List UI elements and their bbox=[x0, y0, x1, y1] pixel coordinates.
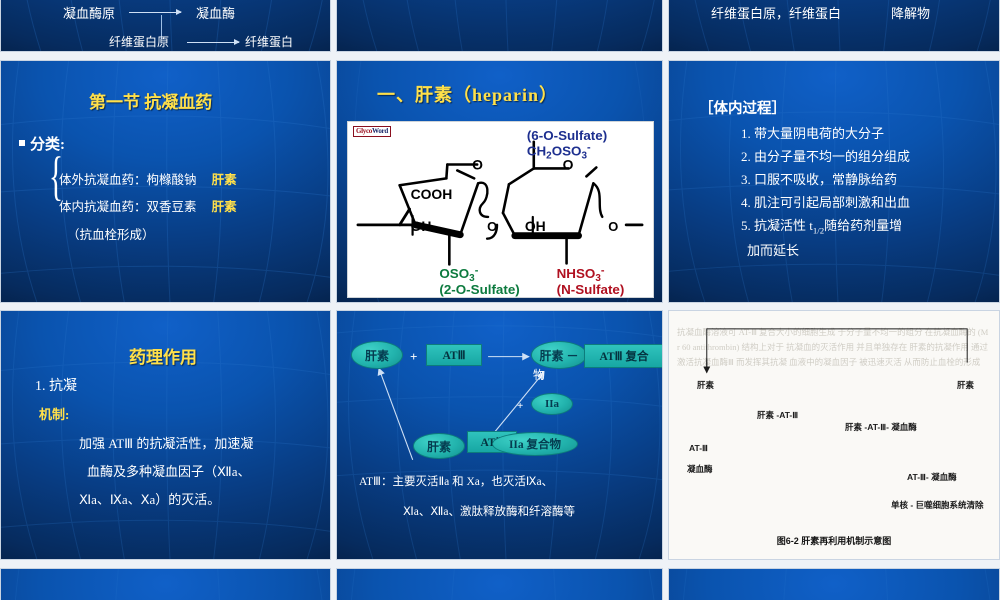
slide-thumbnail-heparin-recycle-figure[interactable]: 抗凝血酶溶液可 AT-Ⅲ 复合大小的细胞生成 于分子量不均一的组分 在抗凝血酶的… bbox=[668, 310, 1000, 560]
svg-text:O: O bbox=[608, 219, 618, 234]
slide-thumbnail-bottom-right-blank[interactable] bbox=[668, 568, 1000, 600]
classification-note: （抗血栓形成） bbox=[67, 224, 155, 243]
page-title: 一、肝素（heparin） bbox=[377, 81, 558, 107]
node-heparin-oval-bottom[interactable]: 肝素 bbox=[413, 433, 465, 459]
pk-item-0: 1. 带大量阴电荷的大分子 bbox=[741, 123, 884, 142]
node-atiii-complex-box[interactable]: ATⅢ 复合 bbox=[584, 344, 663, 368]
svg-text:OH: OH bbox=[525, 218, 546, 234]
page-title: 第一节 抗凝血药 bbox=[89, 88, 212, 113]
pk-item-5: 加而延长 bbox=[747, 240, 799, 259]
figure-label-clearance: 单核 - 巨噬细胞系统清除 bbox=[891, 499, 999, 559]
slide-thumbnail-bottom-mid-blank[interactable] bbox=[336, 568, 663, 600]
slide-thumbnail-pharmacodynamics[interactable]: 药理作用 1. 抗凝 机制: 加强 ATⅢ 的抗凝活性，加速凝 血酶及多种凝血因… bbox=[0, 310, 331, 560]
svg-text:O: O bbox=[563, 156, 574, 172]
pk-item-4-sub: 1/2 bbox=[813, 226, 824, 236]
pk-item-2: 3. 口服不吸收，常静脉给药 bbox=[741, 169, 897, 188]
cascade-arrow-2 bbox=[187, 42, 239, 43]
heparin-structure-image: O COOH OH O O OH O (6-O-Sulfate) CH2OSO3… bbox=[347, 121, 654, 298]
pk-item-1: 2. 由分子量不均一的组分组成 bbox=[741, 146, 910, 165]
slide-thumbnail-pharmacokinetics[interactable]: ［体内过程］ 1. 带大量阴电荷的大分子 2. 由分子量不均一的组分组成 3. … bbox=[668, 60, 1000, 303]
pd-mechanism-label: 机制: bbox=[39, 404, 69, 423]
classification-row-1: 体内抗凝血药：双香豆素 肝素 bbox=[59, 196, 237, 215]
glycoword-watermark: GlycoWord bbox=[353, 126, 391, 137]
cascade-arrow-1 bbox=[129, 12, 181, 13]
slide-thumbnail-atiii-diagram[interactable]: 肝素 + ATⅢ 肝素 － 物 ATⅢ 复合 + IIa 肝素 － ATⅢ II… bbox=[336, 310, 663, 560]
classification-row-0: 体外抗凝血药：枸橼酸钠 肝素 bbox=[59, 169, 237, 188]
svg-text:(N-Sulfate): (N-Sulfate) bbox=[557, 282, 625, 297]
row0-label: 体外抗凝血药：枸橼酸钠 bbox=[59, 173, 197, 187]
node-heparin-oval-top[interactable]: 肝素 bbox=[351, 341, 403, 369]
row1-label: 体内抗凝血药：双香豆素 bbox=[59, 200, 197, 214]
fibrinolysis-right-text: 降解物 bbox=[891, 3, 930, 22]
row0-highlight: 肝素 bbox=[212, 173, 237, 187]
watermark-part-2: Word bbox=[372, 127, 388, 135]
pk-title: ［体内过程］ bbox=[699, 97, 786, 118]
slide-thumbnail-heparin-structure[interactable]: 一、肝素（heparin） bbox=[336, 60, 663, 303]
svg-text:(6-O-Sulfate): (6-O-Sulfate) bbox=[527, 128, 607, 143]
svg-text:O: O bbox=[472, 156, 483, 172]
slide-thumbnail-coagulation-cascade-tail[interactable]: 凝血酶原 凝血酶 纤维蛋白原 纤维蛋白 bbox=[0, 0, 331, 52]
page-title: 药理作用 bbox=[129, 343, 197, 368]
slide-grid: 凝血酶原 凝血酶 纤维蛋白原 纤维蛋白 bbox=[0, 0, 1000, 600]
cascade-line2-left: 纤维蛋白原 bbox=[109, 33, 169, 50]
node-atiii-box-top[interactable]: ATⅢ bbox=[426, 344, 482, 366]
diagram-footnote-1: Ⅺa、Ⅻa、激肽释放酶和纤溶酶等 bbox=[403, 503, 575, 519]
node-iia-complex-label[interactable]: IIa 复合物 bbox=[492, 432, 578, 456]
node-complex-suffix: 物 bbox=[533, 366, 545, 383]
globe-background bbox=[337, 0, 662, 51]
svg-text:OH: OH bbox=[411, 218, 432, 234]
globe-background bbox=[337, 569, 662, 600]
plus-sign-1: + bbox=[410, 349, 417, 365]
node-iia-oval[interactable]: IIa bbox=[531, 393, 573, 415]
plus-sign-2: + bbox=[517, 400, 523, 412]
pk-item-4: 5. 抗凝活性 t1/2随给药剂量增 bbox=[741, 215, 902, 236]
slide-thumbnail-top-mid-blank[interactable] bbox=[336, 0, 663, 52]
svg-text:O: O bbox=[487, 219, 497, 234]
diagram-footnote-0: ATⅢ：主要灭活Ⅱa 和 Xa，也灭活Ⅸa、 bbox=[359, 473, 553, 489]
figure-caption: 图6-2 肝素再利用机制示意图 bbox=[669, 534, 999, 547]
slide-thumbnail-fibrinolysis-tail[interactable]: 纤维蛋白原，纤维蛋白 降解物 bbox=[668, 0, 1000, 52]
row1-highlight: 肝素 bbox=[212, 200, 237, 214]
pk-item-4-prefix: 5. 抗凝活性 t bbox=[741, 218, 813, 233]
node-heparin-oval-complex[interactable]: 肝素 － bbox=[531, 341, 587, 369]
square-bullet-icon bbox=[19, 140, 25, 146]
cascade-line1-right: 凝血酶 bbox=[196, 3, 235, 22]
cascade-line2-right: 纤维蛋白 bbox=[245, 33, 293, 50]
pd-mechanism-line-1: 血酶及多种凝血因子（Ⅻa、 bbox=[87, 461, 250, 480]
globe-background bbox=[669, 569, 999, 600]
svg-text:COOH: COOH bbox=[411, 186, 453, 202]
svg-text:CH2OSO3-: CH2OSO3- bbox=[527, 142, 591, 162]
scanned-page: 抗凝血酶溶液可 AT-Ⅲ 复合大小的细胞生成 于分子量不均一的组分 在抗凝血酶的… bbox=[669, 311, 999, 559]
pk-item-3: 4. 肌注可引起局部刺激和出血 bbox=[741, 192, 910, 211]
pk-item-4-suffix: 随给药剂量增 bbox=[824, 218, 902, 233]
pd-mechanism-line-0: 加强 ATⅢ 的抗凝活性，加速凝 bbox=[79, 433, 253, 452]
pd-item-1: 1. 抗凝 bbox=[35, 375, 77, 395]
svg-text:(2-O-Sulfate): (2-O-Sulfate) bbox=[439, 282, 519, 297]
slide-thumbnail-bottom-left-blank[interactable] bbox=[0, 568, 331, 600]
globe-background bbox=[1, 569, 330, 600]
slide-thumbnail-anticoagulants[interactable]: 第一节 抗凝血药 分类: { 体外抗凝血药：枸橼酸钠 肝素 体内抗凝血药：双香豆… bbox=[0, 60, 331, 303]
watermark-part-1: Glyco bbox=[356, 127, 372, 135]
fibrinolysis-left-text: 纤维蛋白原，纤维蛋白 bbox=[711, 3, 841, 22]
pd-mechanism-line-2: Ⅺa、Ⅸa、Ⅹa）的灭活。 bbox=[79, 489, 220, 508]
cascade-line1-left: 凝血酶原 bbox=[63, 3, 115, 22]
